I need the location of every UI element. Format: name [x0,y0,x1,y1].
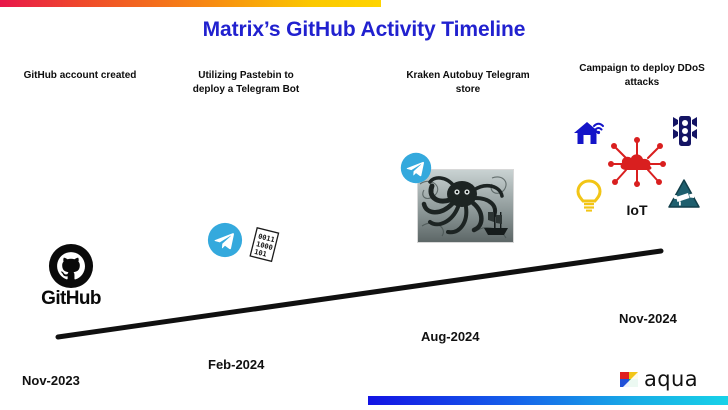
event-caption-3-line2: attacks [562,76,722,90]
date-label-feb-2024: Feb-2024 [208,357,264,372]
event-caption-2-line1: Kraken Autobuy Telegram [382,69,554,83]
iot-label: IoT [612,202,662,218]
smart-home-icon [572,114,606,146]
telegram-icon [400,152,432,184]
github-icon [48,243,94,289]
event-caption-1-line2: deploy a Telegram Bot [172,83,320,97]
kraken-illustration [418,170,513,242]
date-label-aug-2024: Aug-2024 [421,329,480,344]
event-caption-3-line1: Campaign to deploy DDoS [562,62,722,76]
event-caption-0-line1: GitHub account created [24,70,137,81]
event-caption-1-line1: Utilizing Pastebin to [172,69,320,83]
date-label-nov-2023: Nov-2023 [22,373,80,388]
top-accent-bar [0,0,381,7]
bottom-accent-bar [368,396,728,405]
light-bulb-icon [574,178,604,212]
milestone-kraken-store [400,152,515,244]
event-caption-0: GitHub account created [6,69,154,83]
milestone-iot-ddos: IoT [560,112,715,224]
event-caption-2-line2: store [382,83,554,97]
binary-code-page-icon: 0011 1000 101 [247,226,281,266]
cctv-sign-icon [667,178,701,210]
milestone-telegram-pastebin: 0011 1000 101 [205,222,290,282]
page-title: Matrix’s GitHub Activity Timeline [0,18,728,42]
aqua-wordmark: aqua [644,367,698,391]
telegram-icon [207,222,243,258]
date-label-nov-2024: Nov-2024 [619,311,677,326]
traffic-light-icon [670,114,700,148]
slide-canvas: Matrix’s GitHub Activity Timeline GitHub… [0,0,728,410]
event-caption-2: Kraken Autobuy Telegram store [382,69,554,97]
aqua-mark-icon [618,368,640,390]
aqua-logo: aqua [618,368,714,394]
milestone-github: GitHub [28,243,114,311]
iot-cloud-icon [608,134,666,192]
event-caption-1: Utilizing Pastebin to deploy a Telegram … [172,69,320,97]
github-wordmark: GitHub [28,288,114,310]
event-caption-3: Campaign to deploy DDoS attacks [562,62,722,90]
